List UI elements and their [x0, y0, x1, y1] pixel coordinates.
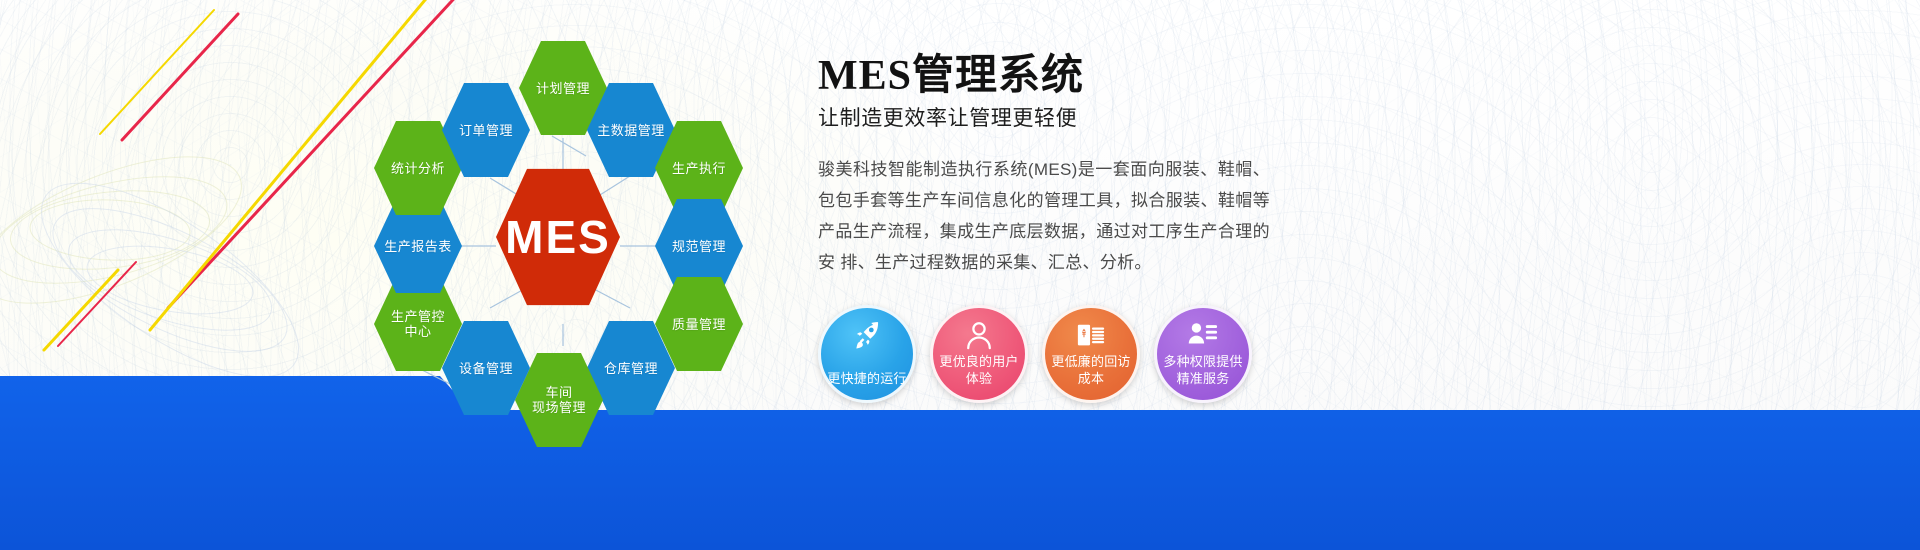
page-title: MES管理系统 [818, 52, 1518, 100]
feature-badge-label: 更优良的用户体验 [936, 353, 1022, 387]
diagram-node-label: 计划管理 [530, 81, 596, 96]
diagram-node-label: 仓库管理 [598, 361, 664, 376]
diagram-node-label: 统计分析 [385, 161, 451, 176]
diagram-node-label: 生产管控 中心 [385, 309, 451, 339]
page-subtitle: 让制造更效率让管理更轻便 [818, 106, 1518, 132]
feature-badge-label: 更低廉的回访成本 [1048, 353, 1134, 387]
diagram-node-label: 生产报告表 [378, 239, 458, 254]
feature-badge-label: 多种权限提供精准服务 [1160, 353, 1246, 387]
rocket-icon [852, 320, 882, 350]
diagram-node-label: 质量管理 [666, 317, 732, 332]
diagram-node-label: 规范管理 [666, 239, 732, 254]
diagram-node-label: 生产执行 [666, 161, 732, 176]
contact-icon [1188, 320, 1218, 350]
mes-hexagon-diagram: MES 计划管理 主数据管理 生产执行 规范管理 质量管理 仓库管理 车间 现场… [330, 8, 780, 438]
page-description: 骏美科技智能制造执行系统(MES)是一套面向服装、鞋帽、包包手套等生产车间信息化… [818, 154, 1270, 278]
diagram-center-label: MES [505, 210, 611, 264]
mes-hero-banner: MES 计划管理 主数据管理 生产执行 规范管理 质量管理 仓库管理 车间 现场… [0, 0, 1920, 550]
feature-badge-label: 更快捷的运行 [824, 370, 910, 387]
feature-badge-list: 更快捷的运行 更优良的用户体验 [818, 305, 1252, 403]
diagram-node-label: 主数据管理 [591, 123, 671, 138]
diagram-node-label: 订单管理 [453, 123, 519, 138]
user-icon [964, 320, 994, 350]
diagram-node-label: 车间 现场管理 [526, 385, 592, 415]
feature-badge-better-user-experience[interactable]: 更优良的用户体验 [930, 305, 1028, 403]
hero-copy: MES管理系统 让制造更效率让管理更轻便 骏美科技智能制造执行系统(MES)是一… [818, 52, 1518, 278]
money-icon [1076, 320, 1106, 350]
diagram-node-label: 设备管理 [453, 361, 519, 376]
feature-badge-multi-permission-service[interactable]: 多种权限提供精准服务 [1154, 305, 1252, 403]
feature-badge-faster-operation[interactable]: 更快捷的运行 [818, 305, 916, 403]
feature-badge-lower-revisit-cost[interactable]: 更低廉的回访成本 [1042, 305, 1140, 403]
